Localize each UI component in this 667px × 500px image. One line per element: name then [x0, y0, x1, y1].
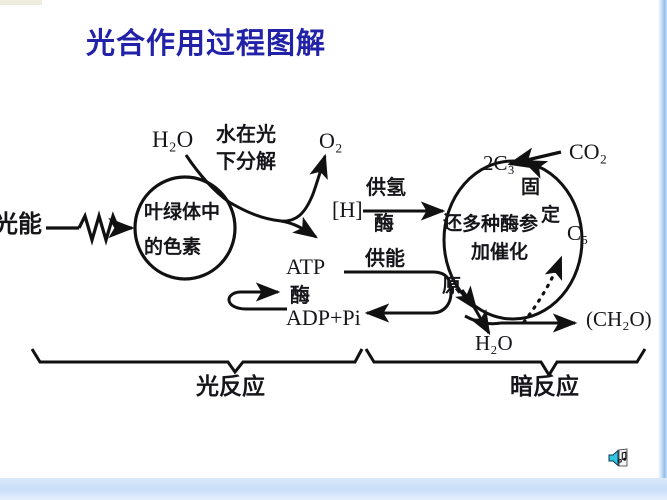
chloroplast-pigment-circle [135, 177, 235, 279]
label-enzyme-lower: 酶 [290, 285, 310, 306]
label-many-enzymes-line1: 多种酶参 [462, 215, 538, 235]
label-dark-reaction-phase: 暗反应 [510, 375, 579, 399]
label-chloroplast-line1: 叶绿体中 [144, 203, 220, 223]
label-light-reaction-phase: 光反应 [196, 375, 265, 399]
label-water-split-line1: 水在光 [216, 124, 276, 145]
label-chloroplast-line2: 的色素 [144, 238, 201, 258]
speaker-sound-icon[interactable] [607, 447, 633, 469]
atp-adp-cycle [229, 292, 287, 309]
label-many-enzymes-line2: 加催化 [471, 243, 528, 263]
label-water-output: H₂O [475, 332, 513, 354]
label-supply-hydrogen: 供氢 [366, 177, 406, 198]
label-fixation-char1: 固 [521, 178, 540, 198]
label-reduction-char1: 还 [443, 214, 462, 234]
label-water-split-line2: 下分解 [216, 151, 276, 172]
label-water-input: H₂O [152, 128, 193, 152]
label-three-carbon: 2C₃ [483, 152, 515, 174]
label-sugar-product: (CH₂O) [586, 308, 652, 330]
slide-canvas: 光合作用过程图解 [0, 0, 667, 500]
label-oxygen: O₂ [319, 129, 343, 152]
label-fixation-char2: 定 [541, 206, 560, 226]
label-light-energy: 光能 [0, 212, 42, 237]
label-five-carbon: C₅ [567, 222, 588, 244]
light-reaction-brace [32, 349, 362, 372]
label-co2-input: CO₂ [569, 140, 607, 163]
label-enzyme-upper: 酶 [374, 213, 394, 234]
label-reduction-char2: 原 [442, 277, 461, 297]
light-energy-arrow [46, 216, 132, 240]
label-reducing-power: [H] [332, 198, 363, 221]
label-atp: ATP [286, 255, 325, 278]
diagram-vector-layer [0, 0, 667, 500]
co2-input-arrow [510, 152, 561, 164]
cycle-arrowhead-top [524, 161, 540, 168]
label-adp-pi: ADP+Pi [286, 306, 361, 329]
water-output-arrow [470, 300, 489, 333]
label-supply-energy: 供能 [365, 248, 405, 269]
